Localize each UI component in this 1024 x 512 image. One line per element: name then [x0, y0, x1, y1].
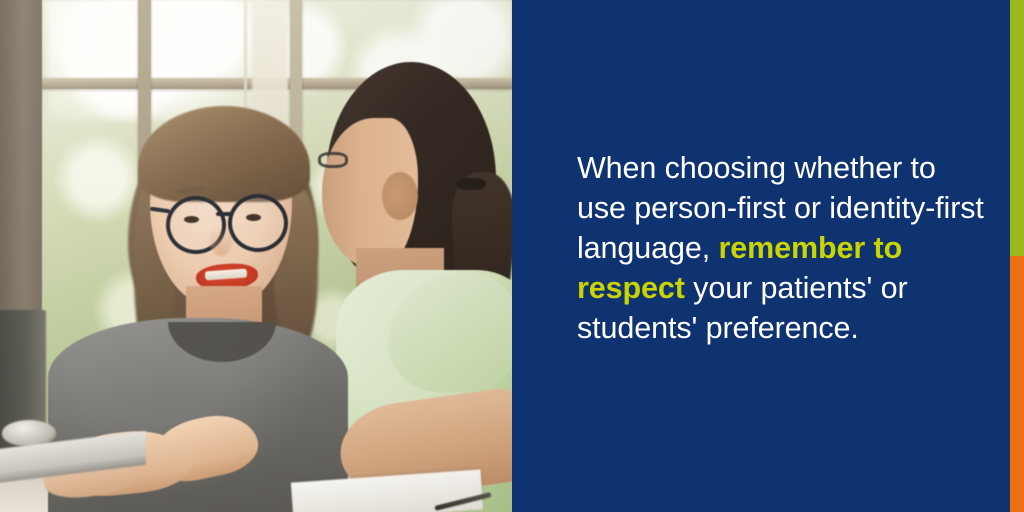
photo-illustration [0, 0, 512, 512]
ponytail-tie [456, 178, 486, 190]
eyeglasses-bridge-icon [216, 212, 232, 216]
person-glasses-nose [210, 226, 232, 256]
accent-bar-group [1010, 0, 1024, 512]
quote-text: When choosing whether to use person-firs… [577, 148, 987, 348]
accent-bar-green [1010, 0, 1024, 256]
photo-panel [0, 0, 512, 512]
eyeglasses-lens-right-icon [228, 194, 288, 252]
person-green-top-glasses-icon [318, 152, 348, 168]
infographic-banner: When choosing whether to use person-firs… [0, 0, 1024, 512]
person-glasses-eye-right [246, 214, 261, 221]
accent-bar-orange [1010, 256, 1024, 512]
quote-panel: When choosing whether to use person-firs… [512, 0, 1024, 512]
window-sky-highlight [48, 0, 263, 120]
person-glasses-eye-left [184, 216, 199, 223]
person-green-top-ear [382, 172, 418, 220]
